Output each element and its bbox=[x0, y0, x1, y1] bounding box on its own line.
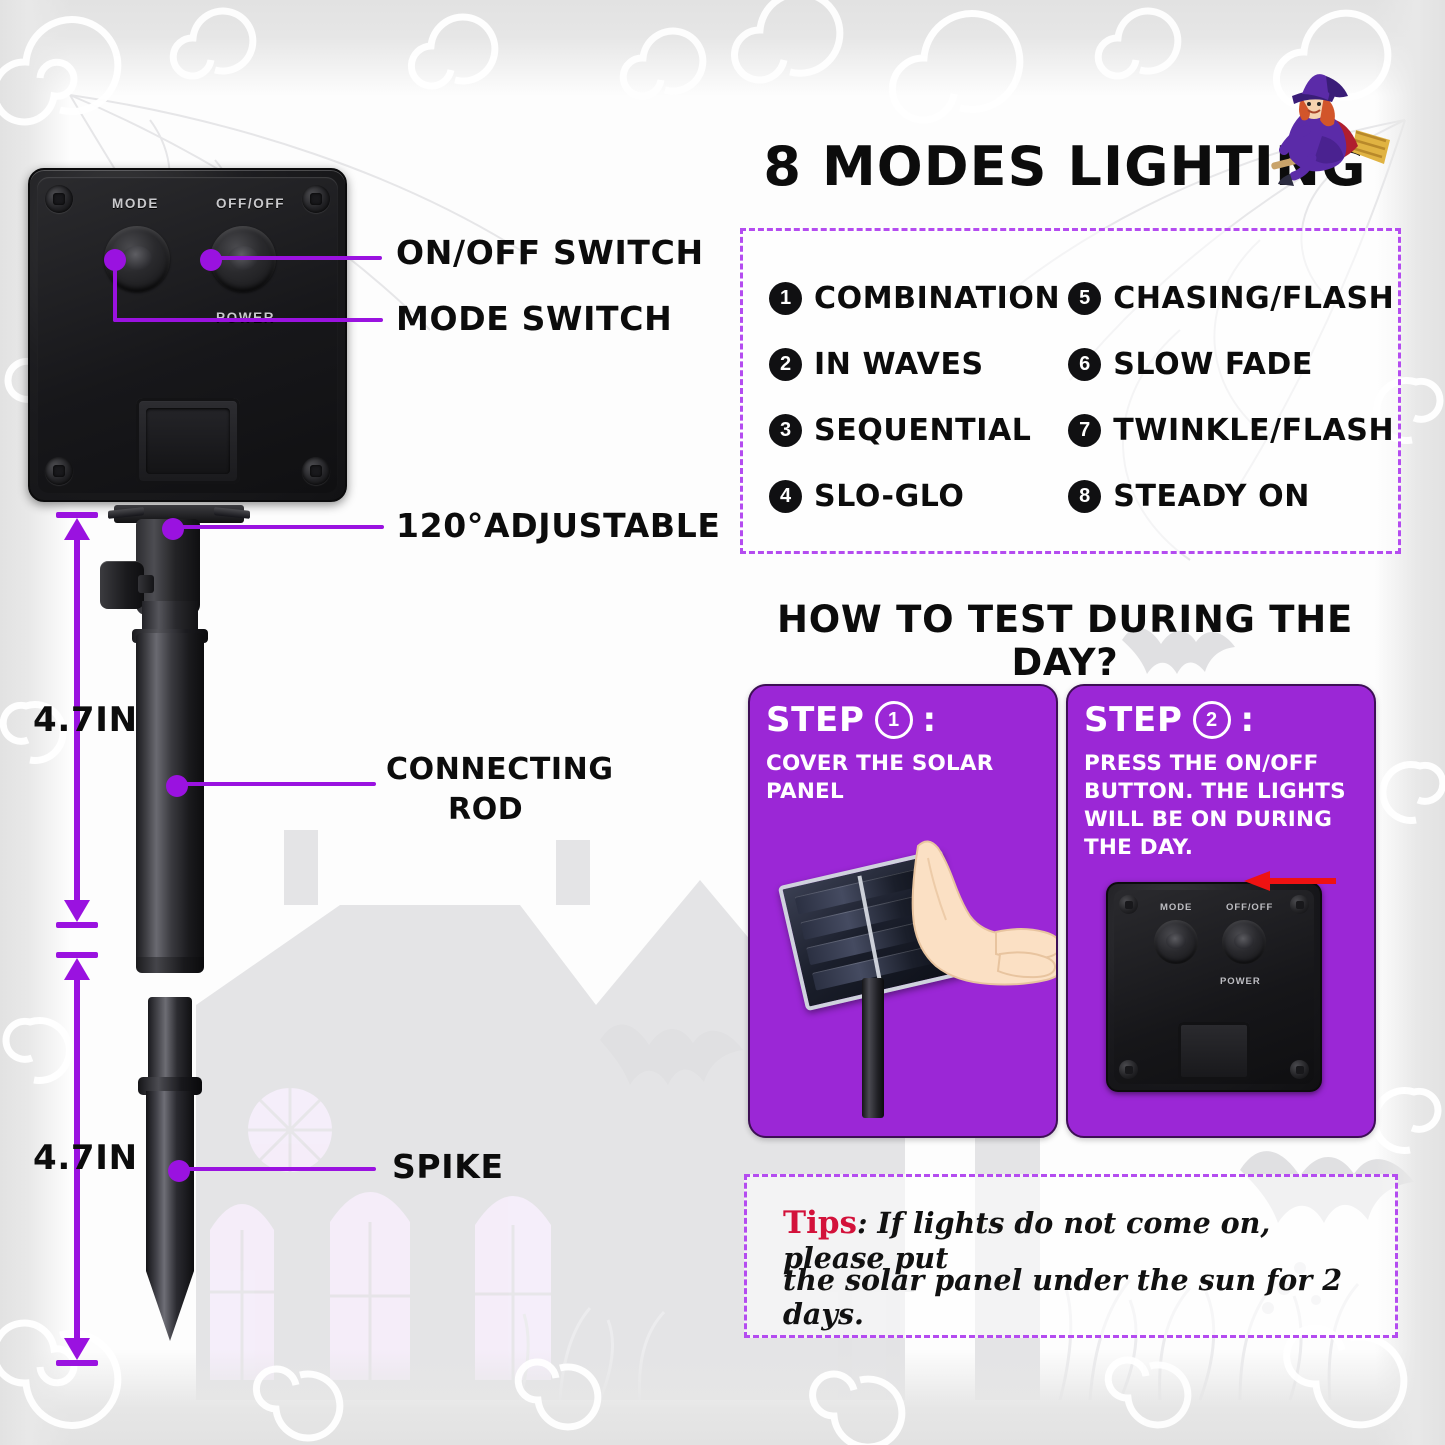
callout-connecting-rod-line2: ROD bbox=[448, 792, 523, 827]
connecting-rod bbox=[136, 633, 204, 963]
spike-point bbox=[146, 1091, 194, 1341]
leader-dot-onoff bbox=[200, 249, 222, 271]
mode-number-badge: 8 bbox=[1068, 480, 1101, 513]
mode-label: SLOW FADE bbox=[1113, 347, 1313, 382]
screw-bottom-left bbox=[45, 457, 73, 485]
solar-control-box: MODE OFF/OFF POWER bbox=[28, 168, 347, 502]
infographic-canvas: MODE OFF/OFF POWER ON/OFF SWITCH MODE SW… bbox=[0, 0, 1445, 1445]
callout-connecting-rod-line1: CONNECTING bbox=[386, 752, 614, 787]
mode-item-7: 7 TWINKLE/FLASH bbox=[1068, 397, 1394, 463]
mode-number-badge: 3 bbox=[769, 414, 802, 447]
solar-panel-pole bbox=[862, 978, 884, 1118]
mini-onoff-button[interactable] bbox=[1222, 920, 1266, 964]
modes-list-box: 1 COMBINATION 5 CHASING/FLASH 2 IN WAVES… bbox=[740, 228, 1401, 554]
step-2-card: STEP 2 : PRESS THE ON/OFF BUTTON. THE LI… bbox=[1066, 684, 1376, 1138]
callout-120-adjustable: 120°ADJUSTABLE bbox=[396, 506, 721, 545]
how-to-test-title: HOW TO TEST DURING THE DAY? bbox=[730, 598, 1400, 684]
mini-mode-button[interactable] bbox=[1154, 920, 1198, 964]
step-1-colon: : bbox=[923, 700, 937, 740]
leader-line-spike bbox=[178, 1167, 376, 1171]
mode-item-5: 5 CHASING/FLASH bbox=[1068, 265, 1394, 331]
callout-on-off-switch: ON/OFF SWITCH bbox=[396, 233, 704, 272]
leader-dot-spike bbox=[168, 1160, 190, 1182]
step-1-heading: STEP 1 : bbox=[766, 700, 936, 740]
mini-usb-port bbox=[1178, 1022, 1250, 1080]
mini-mode-label: MODE bbox=[1160, 902, 1192, 913]
mode-item-4: 4 SLO-GLO bbox=[769, 463, 1060, 529]
callout-spike: SPIKE bbox=[392, 1147, 504, 1186]
callout-mode-switch: MODE SWITCH bbox=[396, 299, 672, 338]
witch-on-broom-icon bbox=[1252, 74, 1412, 194]
step-1-card: STEP 1 : COVER THE SOLAR PANEL bbox=[748, 684, 1058, 1138]
mode-item-8: 8 STEADY ON bbox=[1068, 463, 1394, 529]
leader-line-mode-vertical bbox=[113, 258, 117, 322]
mode-number-badge: 4 bbox=[769, 480, 802, 513]
step-2-number: 2 bbox=[1193, 701, 1231, 739]
mode-item-2: 2 IN WAVES bbox=[769, 331, 1060, 397]
leader-line-onoff bbox=[210, 256, 382, 260]
red-pointer-arrow-icon bbox=[1240, 868, 1336, 894]
mode-label: STEADY ON bbox=[1113, 479, 1310, 514]
mode-number-badge: 7 bbox=[1068, 414, 1101, 447]
mode-label: COMBINATION bbox=[814, 281, 1060, 316]
mode-number-badge: 5 bbox=[1068, 282, 1101, 315]
mode-item-1: 1 COMBINATION bbox=[769, 265, 1060, 331]
mini-power-label: POWER bbox=[1220, 976, 1261, 987]
mode-label: SEQUENTIAL bbox=[814, 413, 1032, 448]
step-2-body: PRESS THE ON/OFF BUTTON. THE LIGHTS WILL… bbox=[1084, 750, 1362, 862]
leader-dot-connecting-rod bbox=[166, 775, 188, 797]
mode-item-6: 6 SLOW FADE bbox=[1068, 331, 1394, 397]
mode-label: IN WAVES bbox=[814, 347, 984, 382]
step-1-prefix: STEP bbox=[766, 700, 865, 740]
mode-item-3: 3 SEQUENTIAL bbox=[769, 397, 1060, 463]
tips-line-2: the solar panel under the sun for 2 days… bbox=[783, 1263, 1367, 1331]
tips-box: Tips: If lights do not come on, please p… bbox=[744, 1174, 1398, 1338]
leader-line-mode bbox=[113, 318, 383, 322]
step-2-colon: : bbox=[1241, 700, 1255, 740]
mini-screw-bottom-right bbox=[1290, 1060, 1309, 1079]
dimension-label-rod: 4.7IN bbox=[33, 700, 138, 740]
bracket-wing-left bbox=[108, 507, 144, 519]
step-1-number: 1 bbox=[875, 701, 913, 739]
onoff-text-label: OFF/OFF bbox=[216, 196, 285, 211]
screw-top-left bbox=[45, 185, 73, 213]
frame-top bbox=[0, 0, 1445, 96]
mode-label: SLO-GLO bbox=[814, 479, 965, 514]
mode-text-label: MODE bbox=[112, 196, 159, 211]
step-2-prefix: STEP bbox=[1084, 700, 1183, 740]
mini-screw-bottom-left bbox=[1119, 1060, 1138, 1079]
modes-grid: 1 COMBINATION 5 CHASING/FLASH 2 IN WAVES… bbox=[743, 231, 1398, 551]
leader-line-adjustable bbox=[172, 525, 384, 529]
pole-assembly bbox=[96, 505, 266, 1385]
leader-line-connecting-rod bbox=[176, 782, 376, 786]
mode-number-badge: 6 bbox=[1068, 348, 1101, 381]
hand-covering-panel-icon bbox=[900, 836, 1058, 1011]
mini-screw-top-left bbox=[1119, 895, 1138, 914]
mode-label: CHASING/FLASH bbox=[1113, 281, 1394, 316]
tips-keyword: Tips bbox=[783, 1205, 857, 1241]
rod-bottom-cap bbox=[136, 957, 204, 973]
mini-onoff-label: OFF/OFF bbox=[1226, 902, 1273, 913]
usb-port bbox=[136, 398, 240, 484]
screw-bottom-right bbox=[302, 457, 330, 485]
step-1-body: COVER THE SOLAR PANEL bbox=[766, 750, 1044, 806]
step-2-control-box: MODE OFF/OFF POWER bbox=[1106, 882, 1322, 1092]
screw-top-right bbox=[302, 185, 330, 213]
bracket-wing-right bbox=[214, 507, 250, 519]
dimension-label-spike: 4.7IN bbox=[33, 1138, 138, 1178]
mode-number-badge: 2 bbox=[769, 348, 802, 381]
mode-number-badge: 1 bbox=[769, 282, 802, 315]
adjust-knob[interactable] bbox=[100, 561, 144, 609]
spike-shank bbox=[148, 997, 192, 1083]
leader-dot-adjustable bbox=[162, 518, 184, 540]
mode-label: TWINKLE/FLASH bbox=[1113, 413, 1394, 448]
mini-screw-top-right bbox=[1290, 895, 1309, 914]
step-2-heading: STEP 2 : bbox=[1084, 700, 1254, 740]
